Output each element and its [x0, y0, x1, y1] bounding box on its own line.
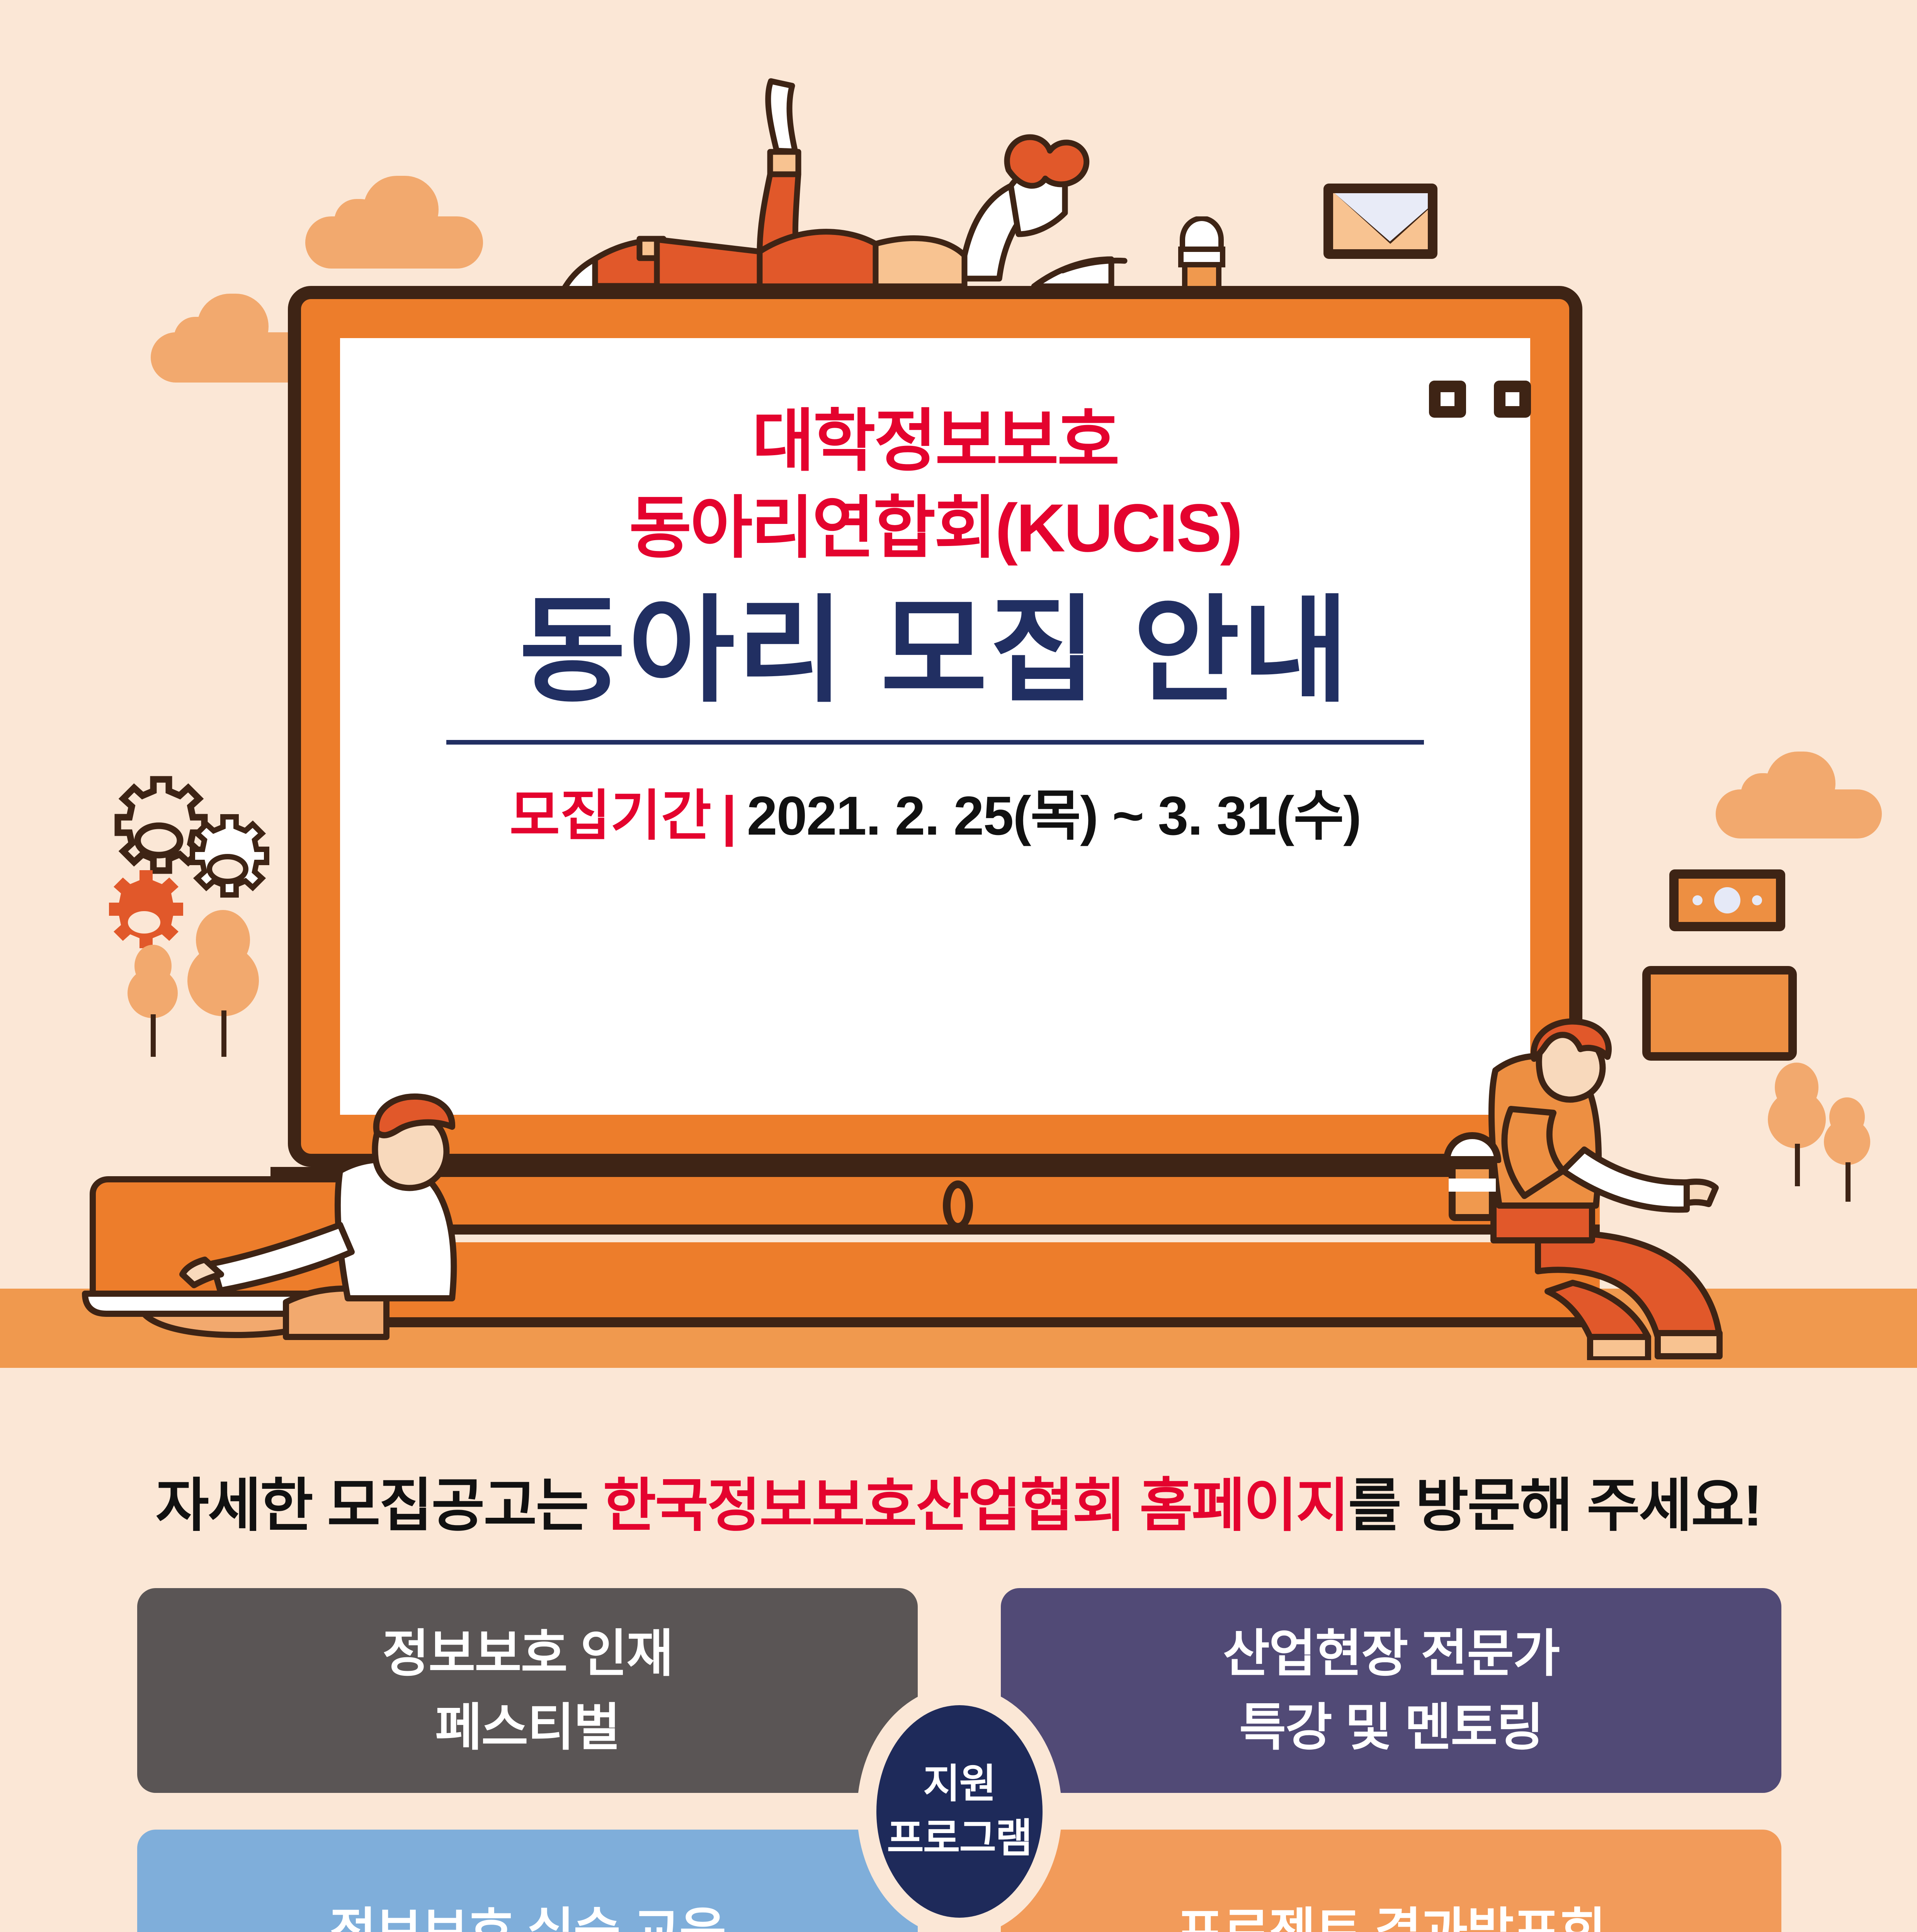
- tagline-after: 를 방문해 주세요!: [1348, 1473, 1761, 1538]
- cloud-icon: [305, 176, 483, 269]
- program-box-festival[interactable]: 정보보호 인재 페스티벌: [137, 1588, 918, 1793]
- program-box-line-1: 정보보호 실습 교육: [330, 1895, 726, 1932]
- program-box-training[interactable]: 정보보호 실습 교육: [137, 1830, 918, 1932]
- tagline-before: 자세한 모집공고는: [156, 1473, 603, 1538]
- program-box-line-2: 특강 및 멘토링: [1239, 1690, 1543, 1764]
- program-box-line-1: 프로젝트 결과발표회: [1177, 1895, 1606, 1932]
- date-separator: |: [721, 784, 737, 848]
- tablet-icon: [1642, 966, 1797, 1061]
- screen-content: 대학정보보호 동아리연합회(KUCIS) 동아리 모집 안내 모집기간 | 20…: [340, 338, 1530, 1115]
- coffee-cup-icon: [1443, 1132, 1501, 1221]
- tagline-highlight: 한국정보보호산업협회 홈페이지: [603, 1473, 1348, 1538]
- date-label: 모집기간: [509, 771, 711, 850]
- hub-line-2: 프로그램: [887, 1811, 1032, 1866]
- cloud-icon: [1716, 752, 1882, 838]
- kicker-line-1: 대학정보보호: [752, 398, 1118, 485]
- tagline: 자세한 모집공고는 한국정보보호산업협회 홈페이지를 방문해 주세요!: [0, 1459, 1917, 1543]
- date-value: 2021. 2. 25(목) ~ 3. 31(수): [747, 771, 1361, 850]
- program-box-mentoring[interactable]: 산업현장 전문가 특강 및 멘토링: [1001, 1588, 1781, 1793]
- support-program-hub: 지원 프로그램: [876, 1705, 1043, 1918]
- program-box-project[interactable]: 프로젝트 결과발표회: [1001, 1830, 1781, 1932]
- trackpad-icon: [943, 1180, 973, 1231]
- program-box-line-2: 페스티벌: [435, 1690, 620, 1764]
- page-title: 동아리 모집 안내: [519, 587, 1351, 714]
- program-box-line-1: 정보보호 인재: [382, 1617, 672, 1690]
- envelope-icon: [1323, 184, 1437, 259]
- hub-line-1: 지원: [923, 1757, 995, 1811]
- poster-canvas: 대학정보보호 동아리연합회(KUCIS) 동아리 모집 안내 모집기간 | 20…: [0, 0, 1917, 1932]
- money-bill-icon: [1669, 869, 1785, 931]
- title-divider: [446, 740, 1424, 745]
- support-program-grid: 정보보호 인재 페스티벌 산업현장 전문가 특강 및 멘토링 정보보호 실습 교…: [137, 1588, 1781, 1932]
- program-box-line-1: 산업현장 전문가: [1223, 1617, 1560, 1690]
- recruitment-period: 모집기간 | 2021. 2. 25(목) ~ 3. 31(수): [509, 771, 1361, 850]
- hero-illustration: 대학정보보호 동아리연합회(KUCIS) 동아리 모집 안내 모집기간 | 20…: [0, 0, 1917, 1414]
- kicker-line-2: 동아리연합회(KUCIS): [629, 485, 1241, 572]
